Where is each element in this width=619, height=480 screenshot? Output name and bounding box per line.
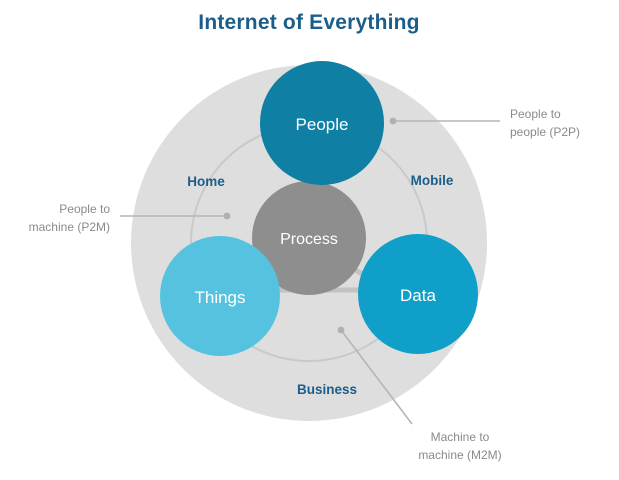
quadrant-label-home: Home: [187, 174, 225, 189]
leader-dot-p2m: [224, 213, 231, 220]
quadrant-label-business: Business: [297, 382, 357, 397]
callout-m2m-line2: machine (M2M): [418, 448, 501, 462]
node-people[interactable]: People: [260, 61, 384, 185]
internet-of-everything-diagram: Internet of Everything Proces: [0, 0, 619, 480]
callout-p2p-line2: people (P2P): [510, 125, 580, 139]
callout-p2p: People to people (P2P): [510, 107, 580, 139]
page-title: Internet of Everything: [198, 11, 419, 34]
callout-p2m-line2: machine (P2M): [29, 220, 110, 234]
people-label: People: [296, 115, 349, 134]
node-things[interactable]: Things: [160, 236, 280, 356]
data-label: Data: [400, 286, 436, 305]
things-label: Things: [194, 288, 245, 307]
process-label: Process: [280, 231, 338, 248]
callout-p2m: People to machine (P2M): [29, 202, 111, 234]
callout-p2p-line1: People to: [510, 107, 561, 121]
leader-dot-m2m: [338, 327, 345, 334]
callout-m2m-line1: Machine to: [431, 430, 490, 444]
diagram-canvas: Internet of Everything Proces: [0, 0, 619, 480]
callout-m2m: Machine to machine (M2M): [418, 430, 501, 462]
callout-p2m-line1: People to: [59, 202, 110, 216]
leader-dot-p2p: [390, 118, 397, 125]
node-data[interactable]: Data: [358, 234, 478, 354]
quadrant-label-mobile: Mobile: [411, 173, 454, 188]
